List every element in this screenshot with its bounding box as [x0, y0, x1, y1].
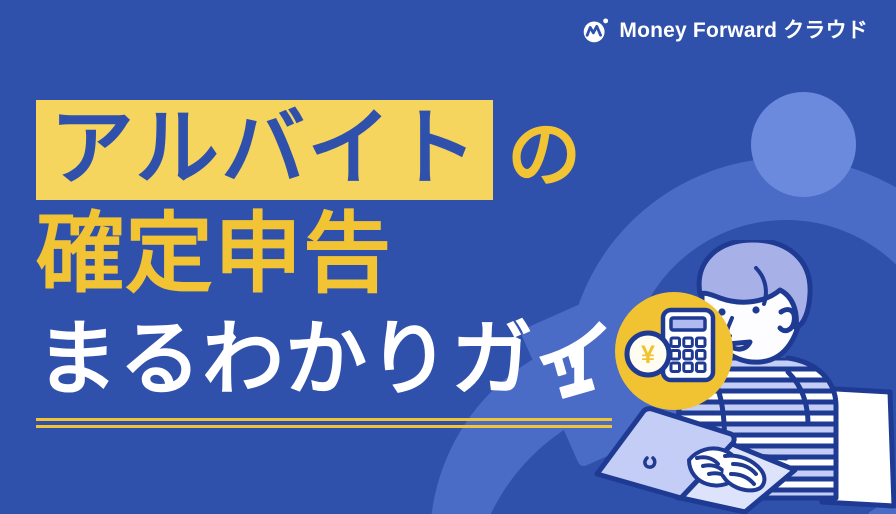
highlighted-keyword-text: アルバイト: [50, 106, 479, 190]
brand-logo[interactable]: Money Forward クラウド: [581, 16, 868, 45]
decorative-circle-top: [751, 92, 856, 197]
calculator-yen-badge-icons: ¥: [615, 292, 733, 410]
headline-underline: [36, 418, 612, 428]
yen-coin-icon: ¥: [627, 333, 669, 375]
calculator-icon: [663, 310, 713, 380]
money-forward-circle-logo-icon: [581, 16, 610, 45]
highlighted-keyword-box: アルバイト: [36, 100, 493, 200]
svg-text:¥: ¥: [641, 341, 655, 369]
brand-logo-text: Money Forward クラウド: [619, 20, 868, 41]
badge-icons-svg: ¥: [615, 292, 733, 410]
headline-line-1: アルバイト の: [36, 72, 700, 200]
underline-bar-bottom: [36, 425, 612, 428]
promo-banner: Money Forward クラウド アルバイト の 確定申告 まるわかりガイド: [0, 0, 896, 514]
laptop-illustration: [585, 400, 800, 514]
headline-particle: の: [507, 118, 581, 200]
headline-line-2-text: 確定申告: [36, 210, 392, 298]
laptop-svg: [585, 400, 800, 514]
